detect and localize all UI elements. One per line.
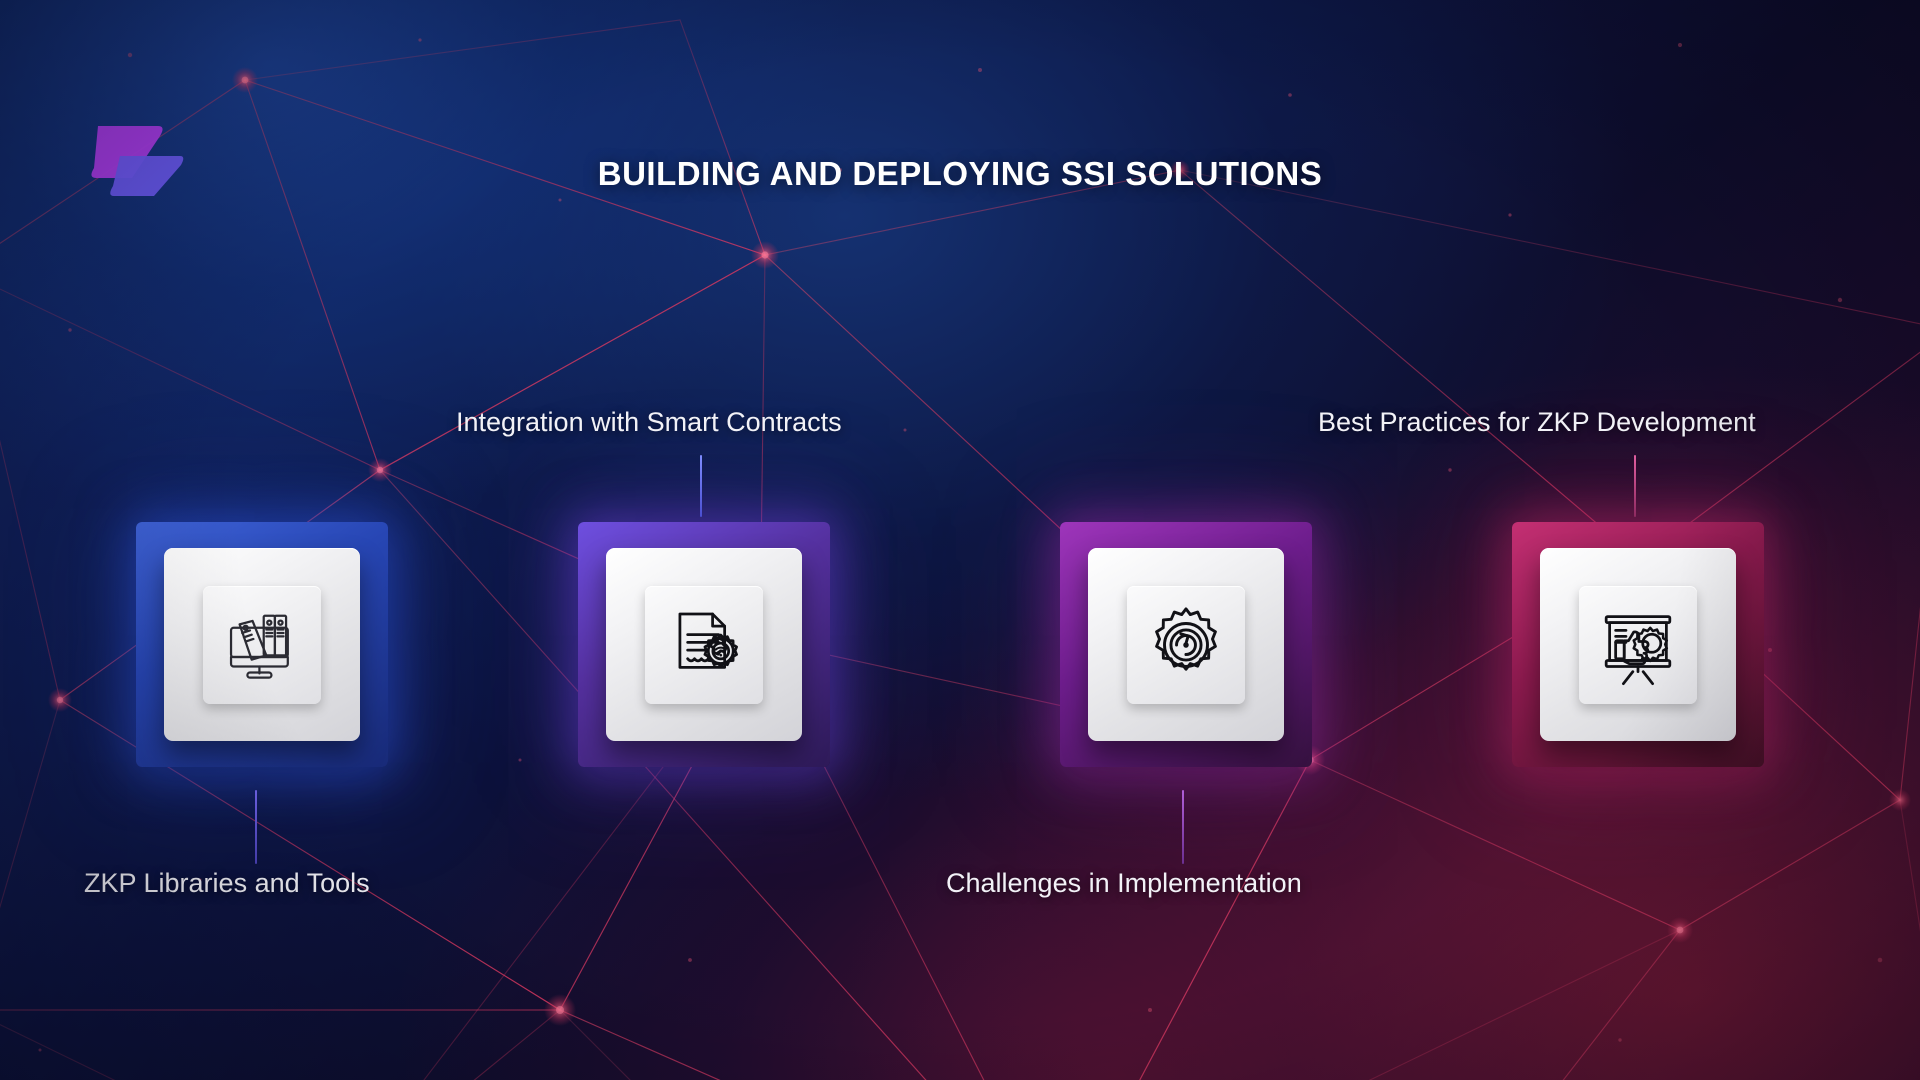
background-vignette <box>0 0 1920 1080</box>
slide-canvas: BUILDING AND DEPLOYING SSI SOLUTIONS <box>0 0 1920 1080</box>
